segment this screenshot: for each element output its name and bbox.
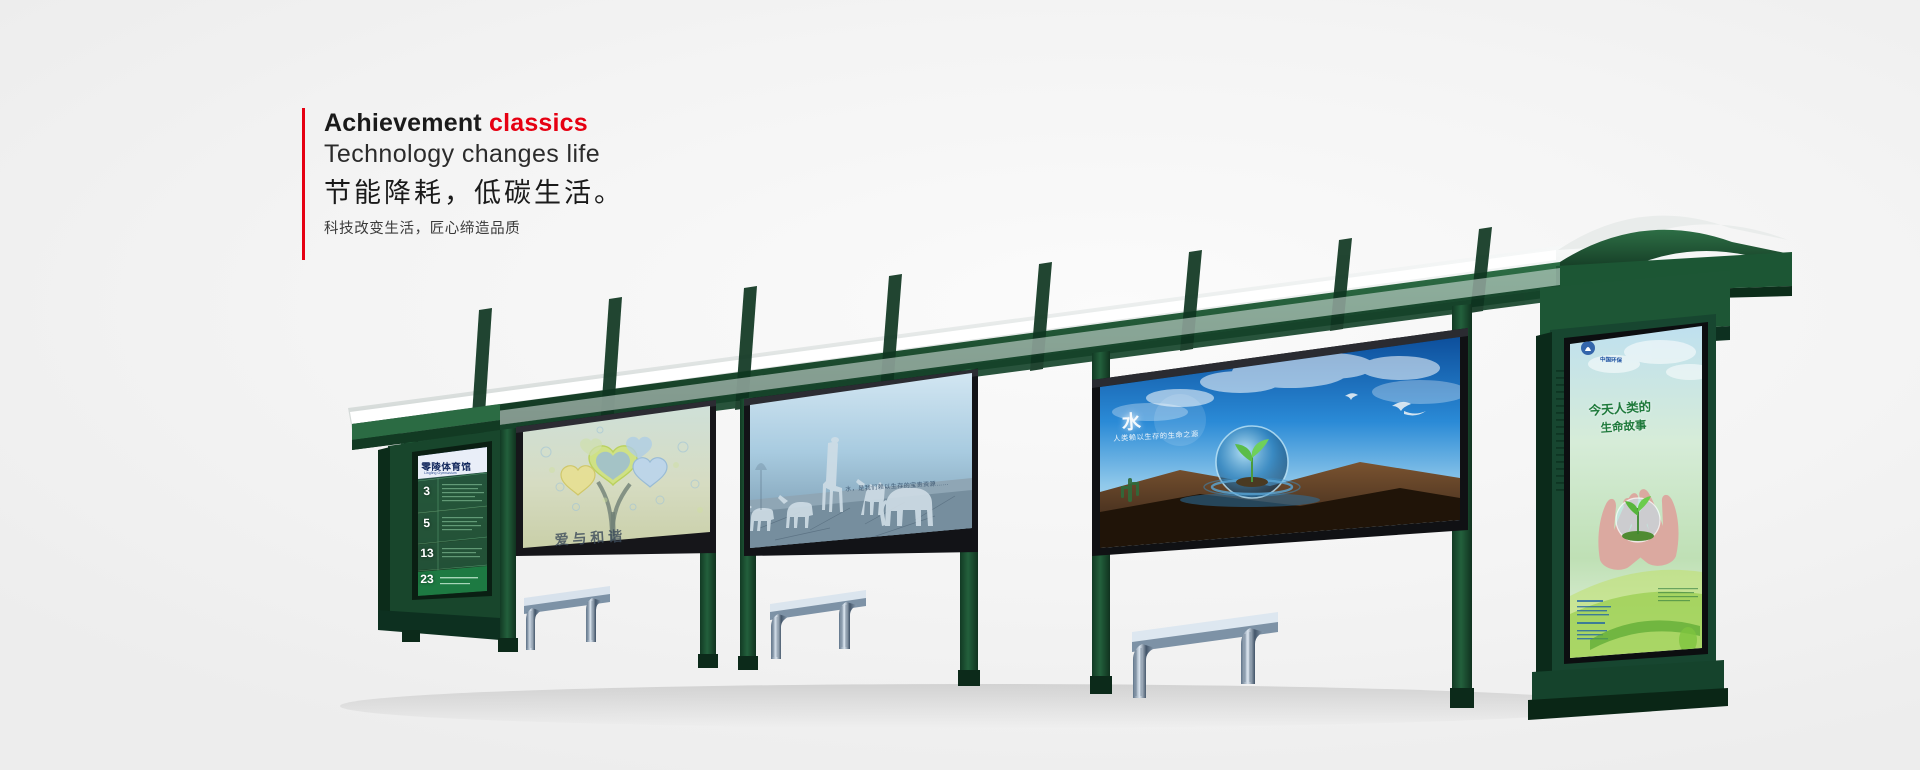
ngo-vertical-kiosk [1528,270,1730,720]
bench-right-leg-b [1241,628,1264,684]
bench-left-leg-b [586,598,602,642]
post-2 [500,428,516,642]
schedule-cabinet-side [378,447,390,614]
schedule-route-3: 13 [420,546,434,560]
water-lightbox [1092,328,1468,556]
ground-shadow [340,684,1620,728]
bench-center-leg-a [771,614,788,659]
kiosk-body-left [1536,332,1552,692]
bus-shelter-render [0,0,1920,770]
love-harmony-lightbox [516,400,716,556]
bench-left [524,586,610,650]
schedule-route-1: 3 [423,484,430,498]
wildlife-lightbox [743,369,978,556]
bench-left-leg-a [526,608,541,650]
bench-center [770,590,866,659]
schedule-route-4: 23 [420,572,434,586]
schedule-route-2: 5 [423,516,430,530]
